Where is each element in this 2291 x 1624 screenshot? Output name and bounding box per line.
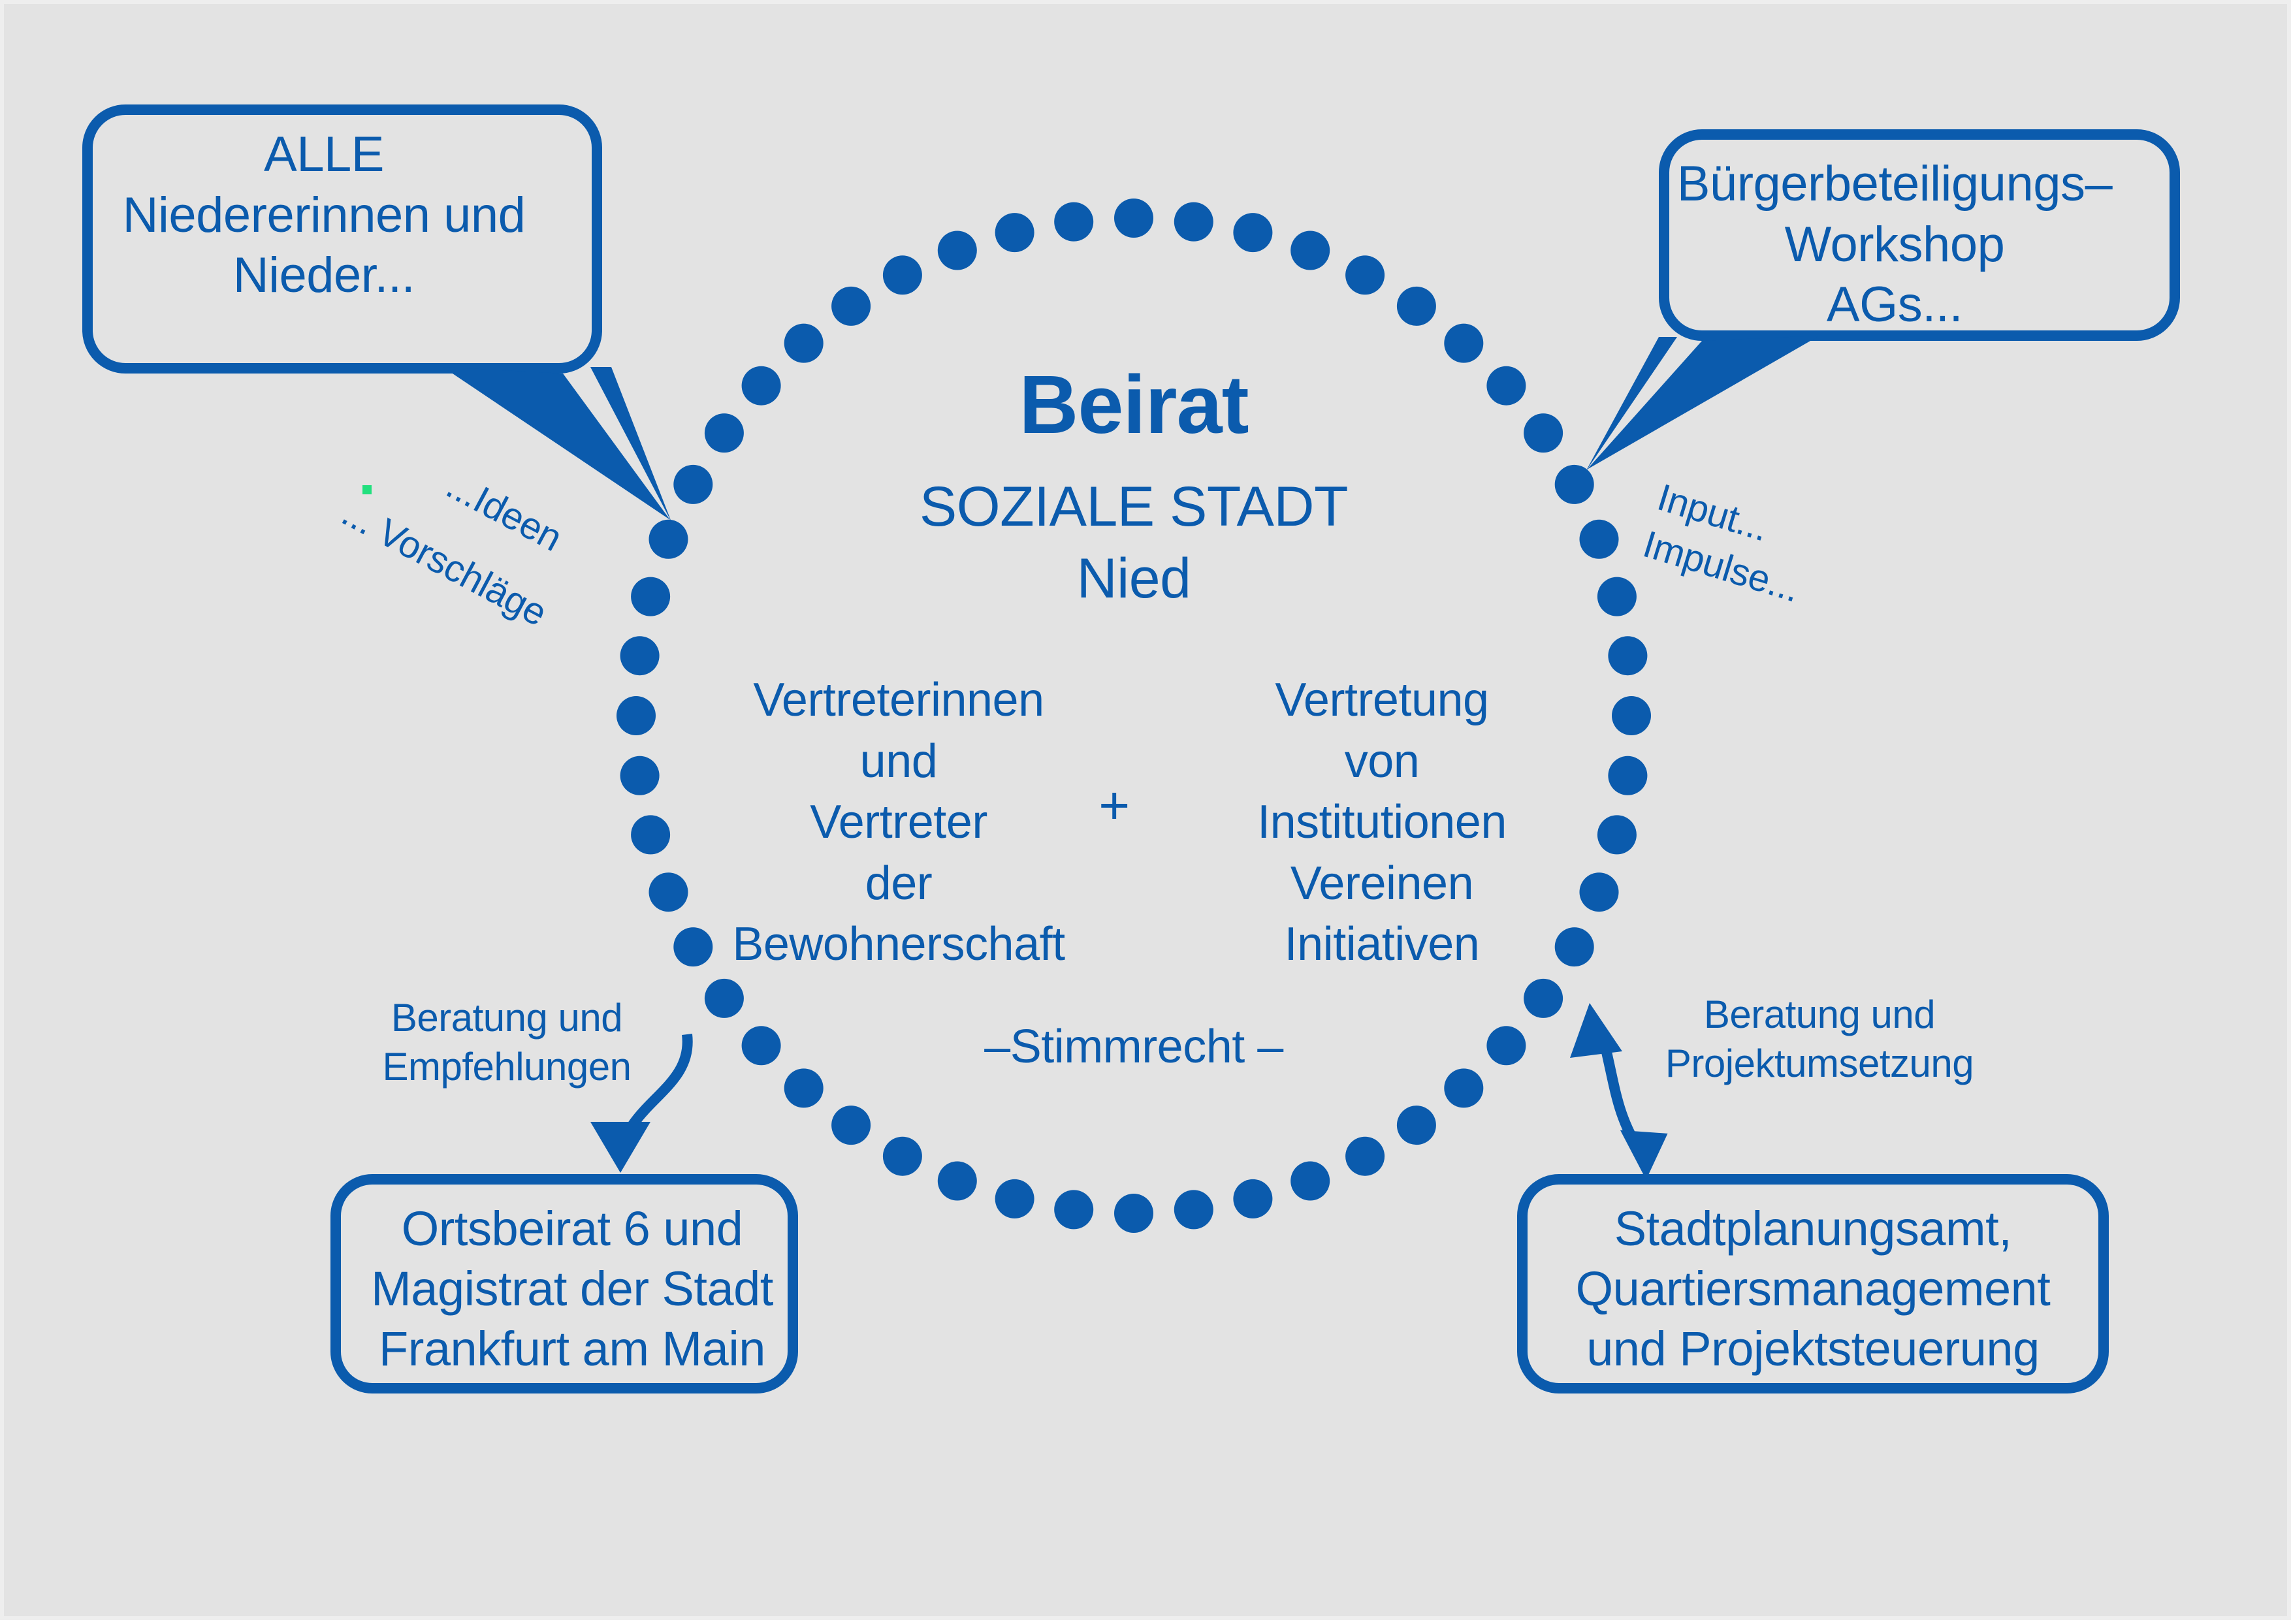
box-ortsbeirat-label: Ortsbeirat 6 und Magistrat der Stadt Fra… [330,1199,814,1378]
ring-dot [1397,1106,1436,1145]
note-beratung-empfehlungen: Beratung und Empfehlungen [370,993,644,1091]
ring-dot [1612,696,1651,735]
ring-dot [1174,1190,1213,1229]
ring-dot [673,465,713,504]
ring-dot [1114,1194,1153,1233]
ring-dot [617,696,656,735]
ring-dot [705,979,744,1018]
green-marker-dot [362,485,372,494]
ring-dot [995,1179,1034,1218]
ring-dot [1174,202,1213,242]
ring-dot [1054,202,1093,242]
center-title: Beirat [807,357,1460,454]
ring-dot [1054,1190,1093,1229]
ring-dot [784,1068,824,1107]
ring-dot [1608,756,1647,795]
ring-dot [1486,366,1526,406]
ring-dot [1233,1179,1272,1218]
note-beratung-projektumsetzung: Beratung und Projektumsetzung [1650,990,1989,1088]
ring-dot [1290,1162,1330,1201]
ring-dot [938,231,977,270]
ring-dot [1114,199,1153,238]
ring-dot [1397,287,1436,326]
ring-dot [620,636,660,675]
ring-dot [1345,255,1385,295]
speech-bubble-right-tail [1587,336,1819,470]
ring-dot [1444,1068,1483,1107]
ring-dot [883,1137,922,1176]
ring-dot [1486,1026,1526,1065]
ring-dot [742,366,781,406]
ring-dot [831,1106,871,1145]
ring-dot [1608,636,1647,675]
ring-dot [649,872,688,912]
ring-dot [1233,213,1272,252]
center-subtitle-line2: Nied [807,546,1460,612]
ring-dot [995,213,1034,252]
ring-dot [1524,979,1563,1018]
speech-bubble-right-label: Bürgerbeteiligungs– Workshop AGs... [1666,154,2123,336]
ring-dot [1597,577,1637,616]
box-stadtplanungsamt-label: Stadtplanungsamt, Quartiersmanagement un… [1519,1199,2107,1378]
ring-dot [883,255,922,295]
ring-dot [620,756,660,795]
center-column-left: Vertreterinnen und Vertreter der Bewohne… [696,670,1101,976]
stimmrecht-label: –Stimmrecht – [873,1019,1395,1075]
diagram-canvas: ALLE Niedererinnen und Nieder... Bürgerb… [0,0,2291,1620]
ring-dot [938,1162,977,1201]
ring-dot [1290,231,1330,270]
center-column-right: Vertretung von Institutionen Vereinen In… [1179,670,1584,976]
ring-dot [1597,815,1637,854]
center-subtitle-line1: SOZIALE STADT [807,474,1460,540]
speech-bubble-left-label: ALLE Niedererinnen und Nieder... [95,125,553,306]
ring-dot [705,413,744,453]
ring-dot [1345,1137,1385,1176]
ring-dot [631,815,670,854]
ring-dot [649,520,688,559]
ring-dot [1555,465,1594,504]
ring-dot [1580,520,1619,559]
ring-dot [1524,413,1563,453]
ring-dot [742,1026,781,1065]
plus-sign: + [1075,774,1153,838]
ring-dot [1580,872,1619,912]
ring-dot [831,287,871,326]
